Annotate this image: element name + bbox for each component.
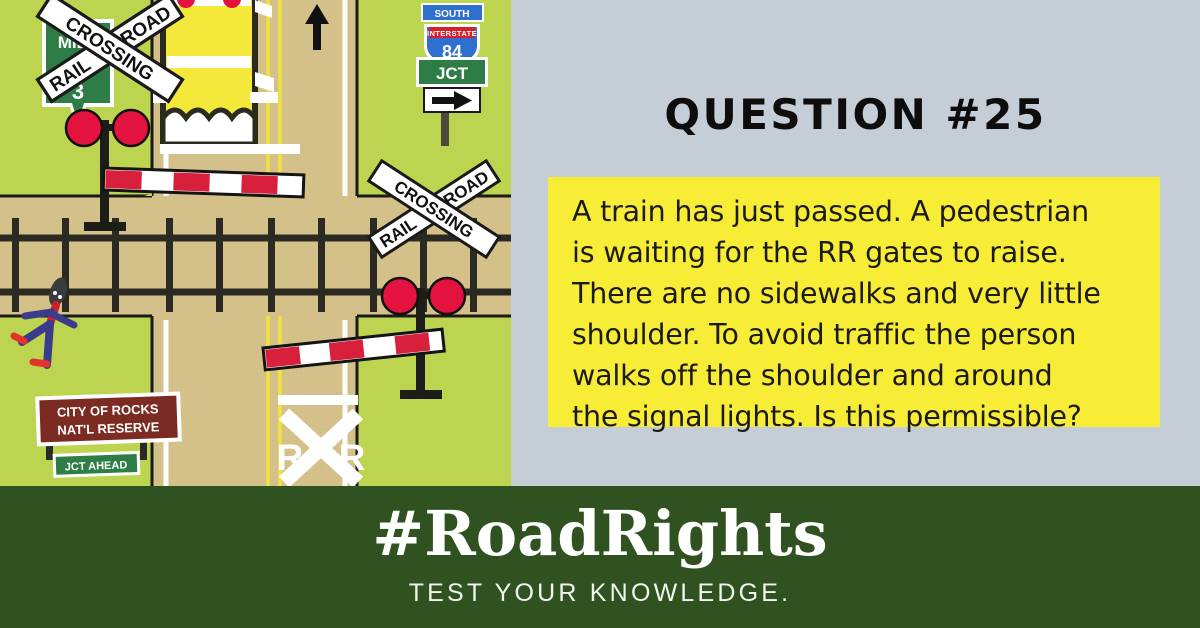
question-line-6: the signal lights. Is this permissible? <box>572 396 1138 437</box>
question-pane: QUESTION #25 A train has just passed. A … <box>511 0 1200 486</box>
question-line-3: There are no sidewalks and very little <box>572 273 1138 314</box>
page-root: MILE 1 3 RAIL ROAD CROSSING <box>0 0 1200 628</box>
signal-light <box>429 278 465 314</box>
question-line-5: walks off the shoulder and around <box>572 355 1138 396</box>
question-line-4: shoulder. To avoid traffic the person <box>572 314 1138 355</box>
brand-tagline: TEST YOUR KNOWLEDGE. <box>0 579 1200 608</box>
signal-light <box>66 110 102 146</box>
rxr-right-letter: R <box>339 437 366 478</box>
brand-banner: #RoadRights TEST YOUR KNOWLEDGE. <box>0 486 1200 628</box>
question-line-2: is waiting for the RR gates to raise. <box>572 232 1138 273</box>
jct-ahead-label: JCT AHEAD <box>65 459 128 473</box>
interstate-shield-word: INTERSTATE <box>427 29 477 38</box>
railroad-crossing-illustration: MILE 1 3 RAIL ROAD CROSSING <box>0 0 511 486</box>
brand-hashtag: #RoadRights <box>0 498 1200 569</box>
question-line-1: A train has just passed. A pedestrian <box>572 191 1138 232</box>
question-callout-box: A train has just passed. A pedestrian is… <box>548 177 1160 427</box>
signal-light <box>113 110 149 146</box>
page-title: QUESTION #25 <box>511 94 1200 136</box>
rxr-left-letter: R <box>277 437 304 478</box>
interstate-direction-label: SOUTH <box>435 9 470 20</box>
signal-light <box>382 278 418 314</box>
junction-label: JCT <box>436 64 469 83</box>
